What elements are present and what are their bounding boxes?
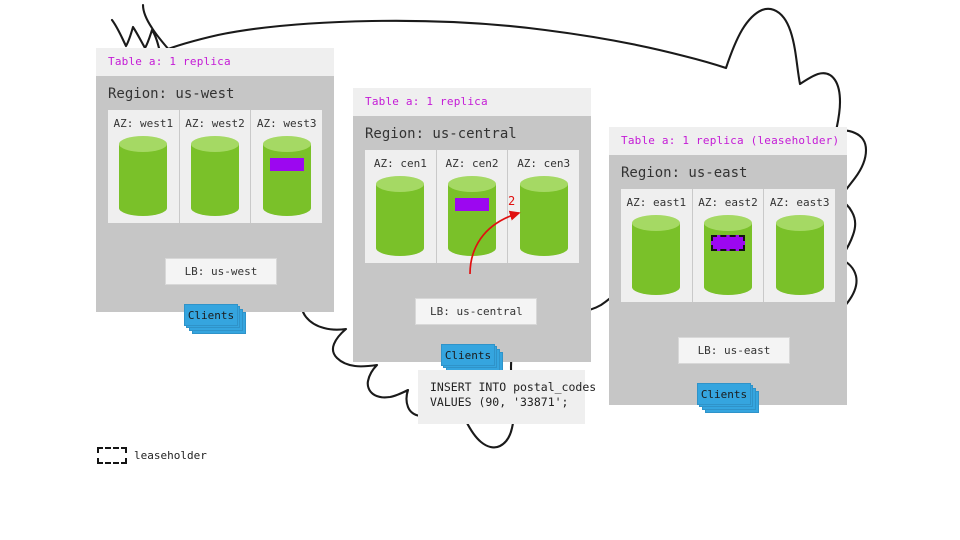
az-row-us-west: AZ: west1 AZ: west2 AZ: [108, 110, 322, 223]
replica-marker-west3: [270, 158, 304, 171]
cylinder-top: [520, 176, 568, 192]
clients-stack-us-east[interactable]: Clients: [697, 383, 759, 413]
cylinder-body: [704, 223, 752, 287]
az-cell-cen2: AZ: cen2: [436, 150, 508, 263]
cylinder-top: [191, 136, 239, 152]
cylinder-body: [520, 184, 568, 248]
region-panel-us-west: Table a: 1 replica Region: us-west AZ: w…: [96, 48, 334, 312]
az-label-west2: AZ: west2: [180, 117, 251, 130]
cylinder-top: [704, 215, 752, 231]
az-label-east1: AZ: east1: [621, 196, 692, 209]
node-cylinder-west3: [263, 136, 311, 216]
cylinder-body: [376, 184, 424, 248]
az-cell-west3: AZ: west3: [250, 110, 322, 223]
node-cylinder-west1: [119, 136, 167, 216]
node-cylinder-west2: [191, 136, 239, 216]
cylinder-top: [376, 176, 424, 192]
az-cell-cen1: AZ: cen1: [365, 150, 436, 263]
cylinder-top: [263, 136, 311, 152]
az-cell-east1: AZ: east1: [621, 189, 692, 302]
clients-label-us-central: Clients: [441, 344, 495, 366]
region-title-us-east: Region: us-east: [609, 155, 847, 189]
region-header-us-central: Table a: 1 replica: [353, 88, 591, 116]
leaseholder-replica-marker-east2: [711, 235, 745, 251]
az-label-west1: AZ: west1: [108, 117, 179, 130]
az-cell-west2: AZ: west2: [179, 110, 251, 223]
cylinder-top: [119, 136, 167, 152]
az-label-east3: AZ: east3: [764, 196, 835, 209]
az-label-cen3: AZ: cen3: [508, 157, 579, 170]
az-label-west3: AZ: west3: [251, 117, 322, 130]
region-panel-us-central: Table a: 1 replica Region: us-central AZ…: [353, 88, 591, 362]
legend-label: leaseholder: [134, 449, 207, 462]
az-row-us-central: AZ: cen1 AZ: cen2: [365, 150, 579, 263]
cylinder-body: [191, 144, 239, 208]
leaseholder-swatch-icon: [97, 447, 127, 464]
region-title-us-west: Region: us-west: [96, 76, 334, 110]
cylinder-top: [776, 215, 824, 231]
cylinder-body: [776, 223, 824, 287]
clients-label-us-west: Clients: [184, 304, 238, 326]
sql-statement-note: INSERT INTO postal_codes VALUES (90, '33…: [418, 370, 585, 424]
replica-marker-cen2: [455, 198, 489, 211]
cylinder-body: [119, 144, 167, 208]
node-cylinder-east3: [776, 215, 824, 295]
node-cylinder-east2: [704, 215, 752, 295]
legend-leaseholder: leaseholder: [97, 447, 207, 464]
az-label-cen2: AZ: cen2: [437, 157, 508, 170]
node-cylinder-cen1: [376, 176, 424, 256]
clients-label-us-east: Clients: [697, 383, 751, 405]
region-title-us-central: Region: us-central: [353, 116, 591, 150]
diagram-canvas: Table a: 1 replica Region: us-west AZ: w…: [0, 0, 960, 540]
region-header-us-west: Table a: 1 replica: [96, 48, 334, 76]
cylinder-body: [263, 144, 311, 208]
az-row-us-east: AZ: east1 AZ: east2: [621, 189, 835, 302]
load-balancer-us-central: LB: us-central: [415, 298, 537, 325]
region-header-us-east: Table a: 1 replica (leaseholder): [609, 127, 847, 155]
az-cell-east3: AZ: east3: [763, 189, 835, 302]
az-cell-cen3: AZ: cen3: [507, 150, 579, 263]
routing-arrow-label: 2: [508, 194, 515, 208]
az-label-cen1: AZ: cen1: [365, 157, 436, 170]
load-balancer-us-east: LB: us-east: [678, 337, 790, 364]
node-cylinder-east1: [632, 215, 680, 295]
node-cylinder-cen2: [448, 176, 496, 256]
clients-stack-us-west[interactable]: Clients: [184, 304, 246, 334]
az-label-east2: AZ: east2: [693, 196, 764, 209]
cylinder-body: [448, 184, 496, 248]
cylinder-body: [632, 223, 680, 287]
cylinder-top: [632, 215, 680, 231]
cylinder-top: [448, 176, 496, 192]
az-cell-east2: AZ: east2: [692, 189, 764, 302]
az-cell-west1: AZ: west1: [108, 110, 179, 223]
node-cylinder-cen3: [520, 176, 568, 256]
region-panel-us-east: Table a: 1 replica (leaseholder) Region:…: [609, 127, 847, 405]
load-balancer-us-west: LB: us-west: [165, 258, 277, 285]
